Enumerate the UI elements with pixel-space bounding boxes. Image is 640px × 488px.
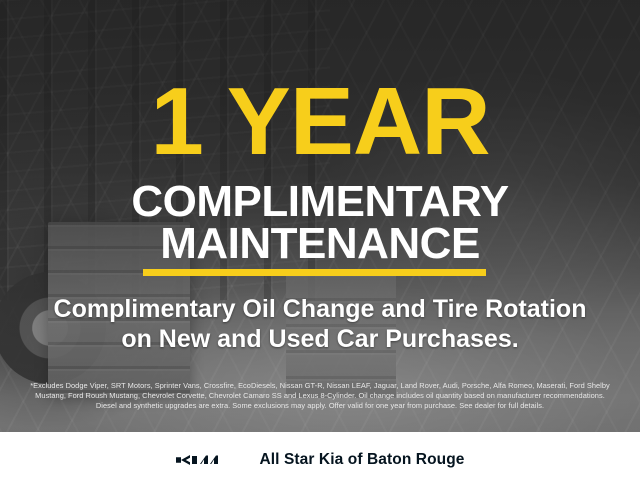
disclaimer-line-2: Mustang, Ford Roush Mustang, Chevrolet C… [12,391,628,401]
hero-section: 1 YEAR COMPLIMENTARY MAINTENANCE Complim… [0,0,640,432]
disclaimer-fine-print: *Excludes Dodge Viper, SRT Motors, Sprin… [12,381,628,412]
yellow-divider-rule [143,269,486,276]
headline-maintenance: MAINTENANCE [0,222,640,266]
promotional-ad-banner[interactable]: 1 YEAR COMPLIMENTARY MAINTENANCE Complim… [0,0,640,488]
headline-complimentary: COMPLIMENTARY [0,180,640,224]
headline-year: 1 YEAR [0,74,640,170]
offer-description-line-2: on New and Used Car Purchases. [0,324,640,354]
disclaimer-line-1: *Excludes Dodge Viper, SRT Motors, Sprin… [12,381,628,391]
offer-description-line-1: Complimentary Oil Change and Tire Rotati… [0,294,640,324]
footer-bar: All Star Kia of Baton Rouge [0,432,640,488]
dealer-name-label: All Star Kia of Baton Rouge [259,451,464,469]
kia-logo-icon [175,452,241,468]
disclaimer-line-3: Diesel and synthetic upgrades are extra.… [12,401,628,411]
hero-copy: 1 YEAR COMPLIMENTARY MAINTENANCE Complim… [0,0,640,432]
footer-branding[interactable]: All Star Kia of Baton Rouge [0,432,640,488]
